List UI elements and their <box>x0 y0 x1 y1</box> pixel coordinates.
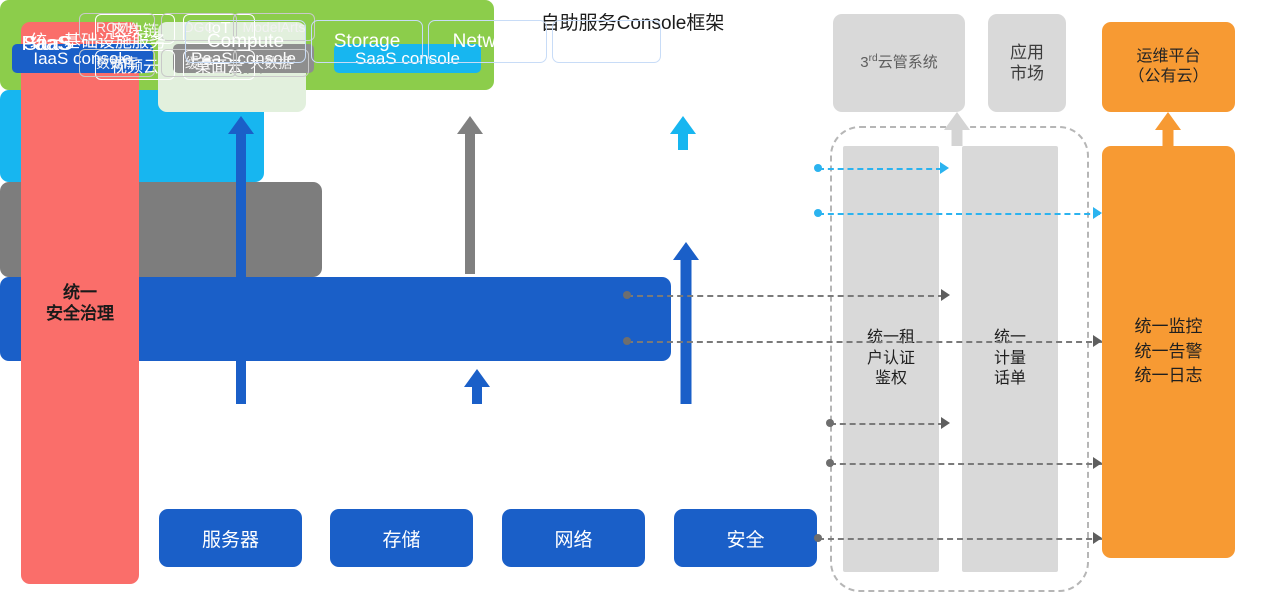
hardware-box-server: 服务器 <box>159 509 302 567</box>
connector-arrowhead-iaas-auth <box>941 417 950 429</box>
connector-dot-paas-ops <box>623 337 631 345</box>
third-party-cloud-mgmt-label: 3rd云管系统 <box>860 53 937 73</box>
connector-arrowhead-paas-auth <box>941 289 950 301</box>
connector-arrowhead-iaas-ops <box>1093 457 1102 469</box>
arrow-up-iaas-to-api-gateway <box>228 116 254 404</box>
iaas-chip-network[interactable]: Network <box>428 20 547 63</box>
connector-dot-saas-auth <box>814 164 822 172</box>
architecture-diagram: 统一 安全治理 API网关 自助服务Console框架 IaaS console… <box>0 0 1265 605</box>
connector-saas-to-ops <box>818 213 1100 215</box>
connector-arrowhead-hardware-ops <box>1093 532 1102 544</box>
hardware-box-network: 网络 <box>502 509 645 567</box>
connector-iaas-to-ops <box>830 463 1102 465</box>
billing-line3: 话单 <box>994 369 1026 390</box>
unified-billing-column: 统一 计量 话单 <box>962 146 1058 572</box>
app-market-line2: 市场 <box>1010 63 1044 84</box>
ops-monitoring-panel: 统一监控 统一告警 统一日志 <box>1102 146 1235 558</box>
connector-saas-to-auth <box>818 168 942 170</box>
connector-paas-to-auth <box>627 295 944 297</box>
billing-line1: 统一 <box>994 328 1026 349</box>
auth-line1: 统一租 <box>867 328 915 349</box>
connector-dot-saas-ops <box>814 209 822 217</box>
app-market-box: 应用 市场 <box>988 14 1066 112</box>
ops-panel-line2: 统一告警 <box>1135 340 1203 365</box>
auth-line2: 户认证 <box>867 349 915 370</box>
security-governance-panel: 统一 安全治理 <box>21 22 139 584</box>
hardware-box-storage: 存储 <box>330 509 473 567</box>
arrow-up-shared-to-third-cloud <box>944 112 970 146</box>
connector-iaas-to-auth <box>830 423 944 425</box>
arrow-up-shared-to-ops-platform <box>1155 112 1181 150</box>
iaas-layer-label: 统一基础设施服务 <box>14 27 182 52</box>
connector-arrowhead-paas-ops <box>1093 335 1102 347</box>
ops-platform-line1: 运维平台 <box>1128 47 1208 67</box>
connector-hardware-to-ops <box>818 538 1102 540</box>
ops-panel-line1: 统一监控 <box>1135 315 1203 340</box>
unified-tenant-auth-column: 统一租 户认证 鉴权 <box>843 146 939 572</box>
connector-dot-hardware-ops <box>814 534 822 542</box>
hardware-box-security: 安全 <box>674 509 817 567</box>
arrow-up-iaas-to-saas <box>673 242 699 404</box>
billing-line2: 计量 <box>994 349 1026 370</box>
iaas-chip-cce[interactable]: CCE <box>552 20 661 63</box>
app-market-line1: 应用 <box>1010 42 1044 63</box>
arrow-up-paas-to-console <box>457 116 483 274</box>
third-party-cloud-mgmt-box: 3rd云管系统 <box>833 14 965 112</box>
connector-arrowhead-saas-ops <box>1093 207 1102 219</box>
ops-platform-line2: （公有云） <box>1128 67 1208 87</box>
connector-arrowhead-saas-auth <box>940 162 949 174</box>
connector-dot-paas-auth <box>623 291 631 299</box>
auth-line3: 鉴权 <box>867 369 915 390</box>
iaas-chip-compute[interactable]: Compute <box>185 20 306 63</box>
arrow-up-iaas-to-paas <box>464 369 490 404</box>
ops-panel-line3: 统一日志 <box>1135 364 1203 389</box>
iaas-chip-storage[interactable]: Storage <box>311 20 423 63</box>
connector-dot-iaas-auth <box>826 419 834 427</box>
arrow-up-saas-to-console <box>670 116 696 150</box>
connector-dot-iaas-ops <box>826 459 834 467</box>
connector-paas-to-ops <box>627 341 1102 343</box>
paas-chip-database[interactable]: 数据库 <box>79 49 155 77</box>
security-governance-line1: 统一 <box>46 282 114 303</box>
ops-platform-top-box: 运维平台 （公有云） <box>1102 22 1235 112</box>
security-governance-line2: 安全治理 <box>46 303 114 324</box>
